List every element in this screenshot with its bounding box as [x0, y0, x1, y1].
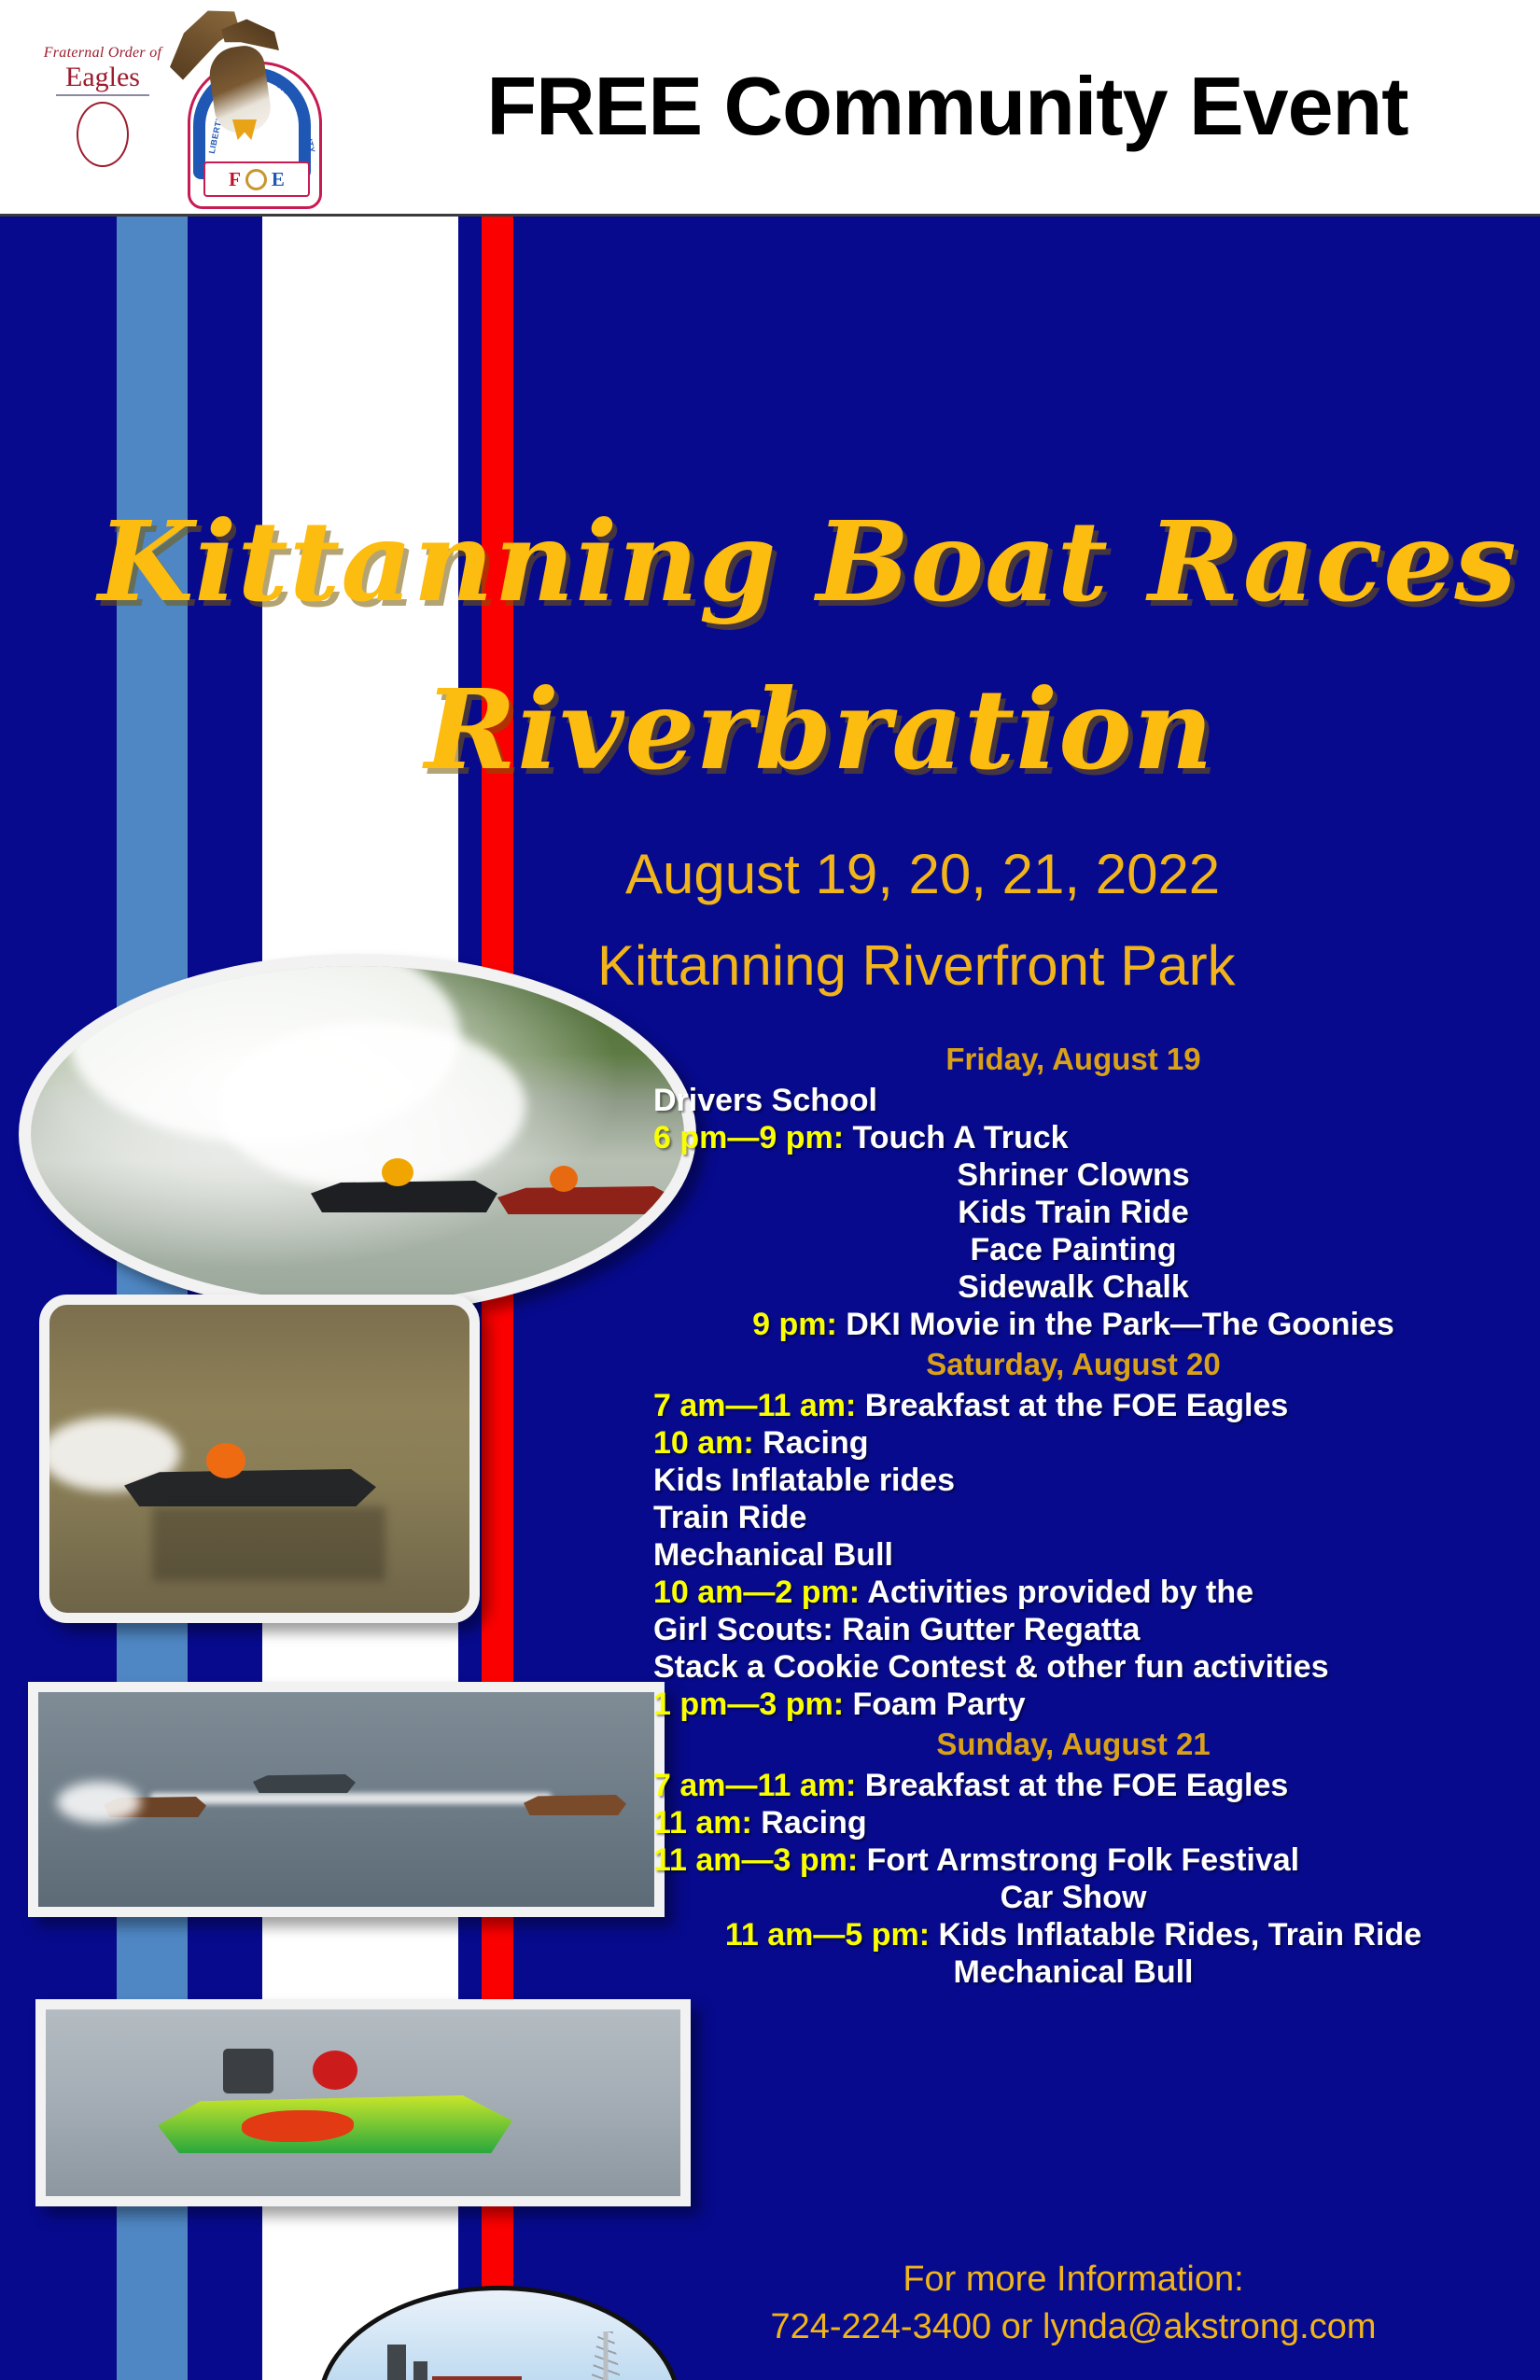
schedule-row: 1 pm—3 pm: Foam Party — [653, 1686, 1493, 1723]
schedule-day-heading: Saturday, August 20 — [653, 1343, 1493, 1387]
schedule-row: Car Show — [653, 1879, 1493, 1916]
race-boat-shape-2 — [497, 1186, 675, 1214]
schedule-row: Mechanical Bull — [653, 1536, 1493, 1574]
schedule-row: Shriner Clowns — [653, 1156, 1493, 1194]
alle-kiski-strong-chamber-logo: ALLE KISKI STRONG .CHAMBER. — [308, 2265, 681, 2380]
photo-two-race-boats-oval — [19, 954, 696, 1314]
schedule-row: 7 am—11 am: Breakfast at the FOE Eagles — [653, 1767, 1493, 1804]
schedule-row: 7 am—11 am: Breakfast at the FOE Eagles — [653, 1387, 1493, 1424]
schedule-time: 7 am—11 am: — [653, 1768, 856, 1803]
crest-letter-o-ring — [245, 169, 267, 190]
schedule-description: Stack a Cookie Contest & other fun activ… — [653, 1649, 1329, 1685]
race-boat-shape-6 — [524, 1795, 626, 1815]
driver-helmet-4 — [313, 2051, 357, 2090]
outboard-engine — [223, 2049, 273, 2093]
photo-single-boat-rounded — [39, 1295, 480, 1623]
schedule-description: Racing — [752, 1805, 867, 1841]
crest-letter-e: E — [272, 168, 285, 191]
schedule-row: Sidewalk Chalk — [653, 1268, 1493, 1306]
contact-info: For more Information: 724-224-3400 or ly… — [653, 2256, 1493, 2352]
eagles-wordmark-loop-flourish — [77, 102, 129, 167]
schedule-description: Mechanical Bull — [653, 1537, 893, 1573]
schedule-row: 11 am: Racing — [653, 1804, 1493, 1841]
schedule-row: Train Ride — [653, 1499, 1493, 1536]
schedule-time: 11 am—3 pm: — [653, 1842, 858, 1878]
driver-helmet-2 — [550, 1166, 578, 1192]
schedule-time: 9 pm: — [752, 1307, 837, 1342]
brick-building-icon — [432, 2376, 522, 2380]
free-community-event-title: FREE Community Event — [425, 41, 1470, 172]
schedule-row: Face Painting — [653, 1231, 1493, 1268]
schedule-row: Girl Scouts: Rain Gutter Regatta — [653, 1611, 1493, 1648]
schedule-time: 10 am: — [653, 1425, 754, 1461]
schedule-description: Mechanical Bull — [954, 1954, 1194, 1990]
schedule-time: 11 am: — [653, 1805, 752, 1841]
schedule-description: Sidewalk Chalk — [958, 1269, 1189, 1305]
schedule-row: 10 am—2 pm: Activities provided by the — [653, 1574, 1493, 1611]
contact-line-2[interactable]: 724-224-3400 or lynda@akstrong.com — [653, 2303, 1493, 2351]
schedule-description: Racing — [754, 1425, 869, 1461]
smokestack-icon-2 — [413, 2361, 427, 2380]
event-schedule: Friday, August 19Drivers School6 pm—9 pm… — [653, 1038, 1493, 1991]
schedule-row: 9 pm: DKI Movie in the Park—The Goonies — [653, 1306, 1493, 1343]
crest-foe-banner: F E — [203, 161, 310, 197]
schedule-description: Girl Scouts: Rain Gutter Regatta — [653, 1612, 1140, 1647]
schedule-description: Face Painting — [970, 1232, 1176, 1267]
schedule-time: 10 am—2 pm: — [653, 1575, 860, 1610]
schedule-row: Kids Inflatable rides — [653, 1462, 1493, 1499]
poster-title-line-1: Kittanning Boat Races — [98, 497, 1518, 626]
poster-title-line-2: Riverbration — [425, 665, 1214, 794]
schedule-description: Shriner Clowns — [957, 1157, 1189, 1193]
crest-letter-f: F — [229, 168, 241, 191]
chamber-scene-oval — [317, 2286, 681, 2380]
eagles-wordmark-rule — [56, 94, 149, 96]
schedule-row: 6 pm—9 pm: Touch A Truck — [653, 1119, 1493, 1156]
schedule-time: 11 am—5 pm: — [725, 1917, 930, 1953]
schedule-description: Train Ride — [653, 1500, 806, 1535]
smokestack-icon — [387, 2345, 406, 2380]
schedule-row: 11 am—5 pm: Kids Inflatable Rides, Train… — [653, 1916, 1493, 1953]
race-boat-shape-3 — [124, 1469, 376, 1506]
photo-three-boats-wide — [28, 1682, 665, 1917]
schedule-row: Mechanical Bull — [653, 1953, 1493, 1991]
schedule-time: 1 pm—3 pm: — [653, 1687, 844, 1722]
eagles-wordmark-top-text: Fraternal Order of — [37, 45, 168, 62]
schedule-description: Kids Train Ride — [958, 1195, 1189, 1230]
driver-helmet — [382, 1158, 413, 1186]
driver-helmet-3 — [206, 1443, 245, 1478]
schedule-description: Activities provided by the — [860, 1575, 1253, 1610]
schedule-description: DKI Movie in the Park—The Goonies — [837, 1307, 1394, 1342]
schedule-row: Stack a Cookie Contest & other fun activ… — [653, 1648, 1493, 1686]
race-boat-shape — [311, 1181, 497, 1212]
spray-plume-2 — [217, 1022, 525, 1190]
schedule-time: 7 am—11 am: — [653, 1388, 856, 1423]
spray-plume-4 — [57, 1782, 141, 1823]
schedule-description: Kids Inflatable rides — [653, 1463, 955, 1498]
schedule-description: Breakfast at the FOE Eagles — [856, 1768, 1288, 1803]
boat-wake-line — [150, 1793, 552, 1804]
schedule-description: Kids Inflatable Rides, Train Ride — [930, 1917, 1421, 1953]
schedule-description: Breakfast at the FOE Eagles — [856, 1388, 1288, 1423]
schedule-day-heading: Friday, August 19 — [653, 1038, 1493, 1082]
event-venue: Kittanning Riverfront Park — [597, 933, 1236, 998]
schedule-description: Drivers School — [653, 1083, 877, 1118]
schedule-row: 10 am: Racing — [653, 1424, 1493, 1462]
poster-header-band: Fraternal Order of Eagles LIBERTY TRUTH … — [0, 0, 1540, 217]
contact-line-1: For more Information: — [653, 2256, 1493, 2303]
schedule-time: 6 pm—9 pm: — [653, 1120, 844, 1155]
schedule-row: Kids Train Ride — [653, 1194, 1493, 1231]
boat-flame-graphic — [242, 2110, 354, 2142]
oil-derrick-icon — [576, 2331, 636, 2380]
event-dates: August 19, 20, 21, 2022 — [625, 842, 1220, 906]
schedule-description: Fort Armstrong Folk Festival — [858, 1842, 1299, 1878]
event-poster: Fraternal Order of Eagles LIBERTY TRUTH … — [0, 0, 1540, 2380]
schedule-day-heading: Sunday, August 21 — [653, 1723, 1493, 1767]
foe-eagle-crest-icon: LIBERTY TRUTH JUSTICE EQUALITY F E — [163, 7, 341, 211]
schedule-description: Car Show — [1001, 1880, 1147, 1915]
photo-green-flamed-boat — [35, 1999, 691, 2206]
poster-main-body: Kittanning Boat Races Riverbration Augus… — [0, 217, 1540, 2380]
fraternal-order-of-eagles-wordmark: Fraternal Order of Eagles — [37, 45, 168, 175]
schedule-row: Drivers School — [653, 1082, 1493, 1119]
water-reflection — [152, 1506, 385, 1581]
eagles-wordmark-main-text: Eagles — [37, 63, 168, 91]
schedule-description: Touch A Truck — [844, 1120, 1069, 1155]
schedule-row: 11 am—3 pm: Fort Armstrong Folk Festival — [653, 1841, 1493, 1879]
schedule-description: Foam Party — [844, 1687, 1026, 1722]
race-boat-shape-5 — [253, 1774, 356, 1793]
